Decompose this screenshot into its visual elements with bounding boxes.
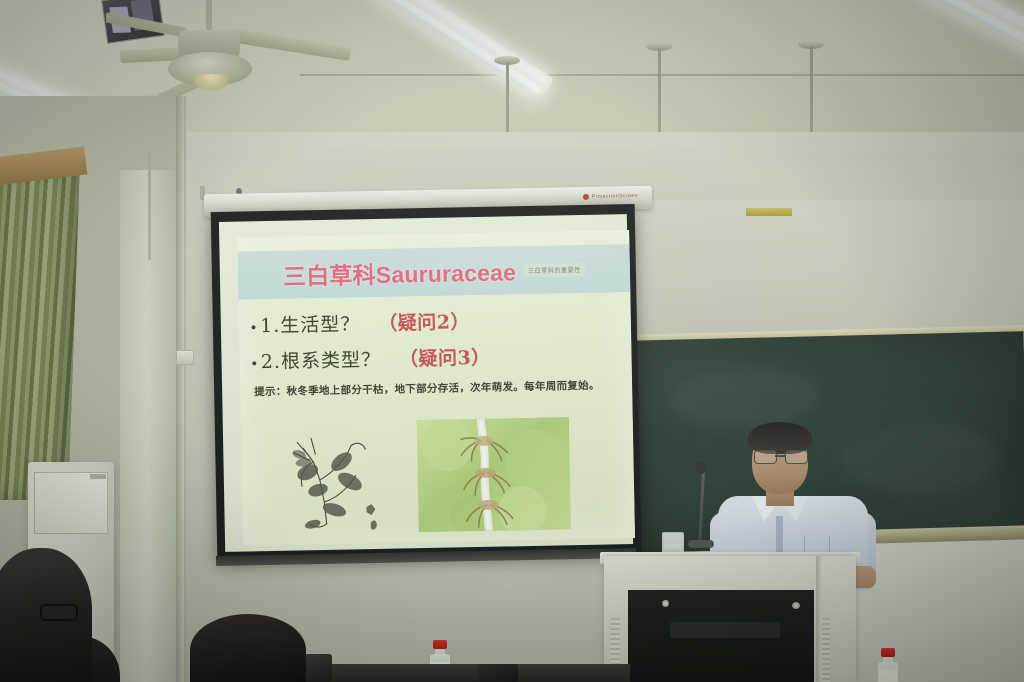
bullet-text: 1.生活型？ (260, 309, 361, 338)
desk-object (304, 654, 332, 682)
wall-plaque (746, 208, 792, 216)
slide-bullet-item: • 1.生活型？ （疑问2） (251, 304, 623, 338)
ac-grille (34, 472, 108, 534)
lectern-knob-left[interactable] (662, 600, 669, 607)
slide-title-annotation: 三白草科的重要性 (524, 262, 585, 276)
front-desk (300, 664, 630, 682)
audience-eyeglasses-icon (40, 604, 78, 621)
screen-brand-text: ProjectionScreen (592, 193, 638, 200)
lectern-knob-right[interactable] (792, 602, 800, 609)
presentation-slide: 三白草科Saururaceae 三白草科的重要性 • 1.生活型？ （疑问2） … (237, 230, 635, 545)
wall-conduit (148, 150, 151, 260)
slide-bullet-item: • 2.根系类型？ （疑问3） (251, 340, 623, 374)
bullet-dot-icon: • (251, 356, 257, 371)
slide-title: 三白草科Saururaceae (283, 253, 517, 291)
audience-head-center (190, 614, 306, 682)
desk-object (478, 664, 518, 682)
slide-bullet-list: • 1.生活型？ （疑问2） • 2.根系类型？ （疑问3） (251, 304, 624, 383)
bullet-dot-icon: • (251, 320, 257, 335)
ac-brand-badge (90, 474, 106, 479)
wall-switch-plate[interactable] (176, 350, 194, 365)
lectern[interactable] (604, 556, 856, 682)
projector-screen-frame: 三白草科Saururaceae 三白草科的重要性 • 1.生活型？ （疑问2） … (211, 204, 642, 560)
slide-title-band: 三白草科Saururaceae 三白草科的重要性 (237, 244, 630, 300)
lectern-edge (816, 556, 822, 682)
wall-above-chalkboard (632, 200, 1024, 334)
screen-brand-logo: ProjectionScreen (583, 193, 638, 200)
brand-dot-icon (583, 194, 589, 200)
projector-screen-surface: 三白草科Saururaceae 三白草科的重要性 • 1.生活型？ （疑问2） … (219, 214, 633, 552)
bullet-note: （疑问3） (399, 343, 491, 372)
lecture-hall-photo: ProjectionScreen 三白草科Saururaceae 三白草科的重要… (0, 0, 1024, 682)
bullet-text: 2.根系类型？ (261, 345, 382, 374)
bullet-note: （疑问2） (378, 307, 470, 336)
rhizome-photograph (417, 417, 571, 532)
eyeglasses-icon (754, 450, 806, 462)
window-curtain (0, 168, 80, 500)
lectern-inner-shelf (670, 622, 780, 638)
botanical-line-drawing (289, 431, 397, 537)
wall-edge (176, 96, 184, 682)
